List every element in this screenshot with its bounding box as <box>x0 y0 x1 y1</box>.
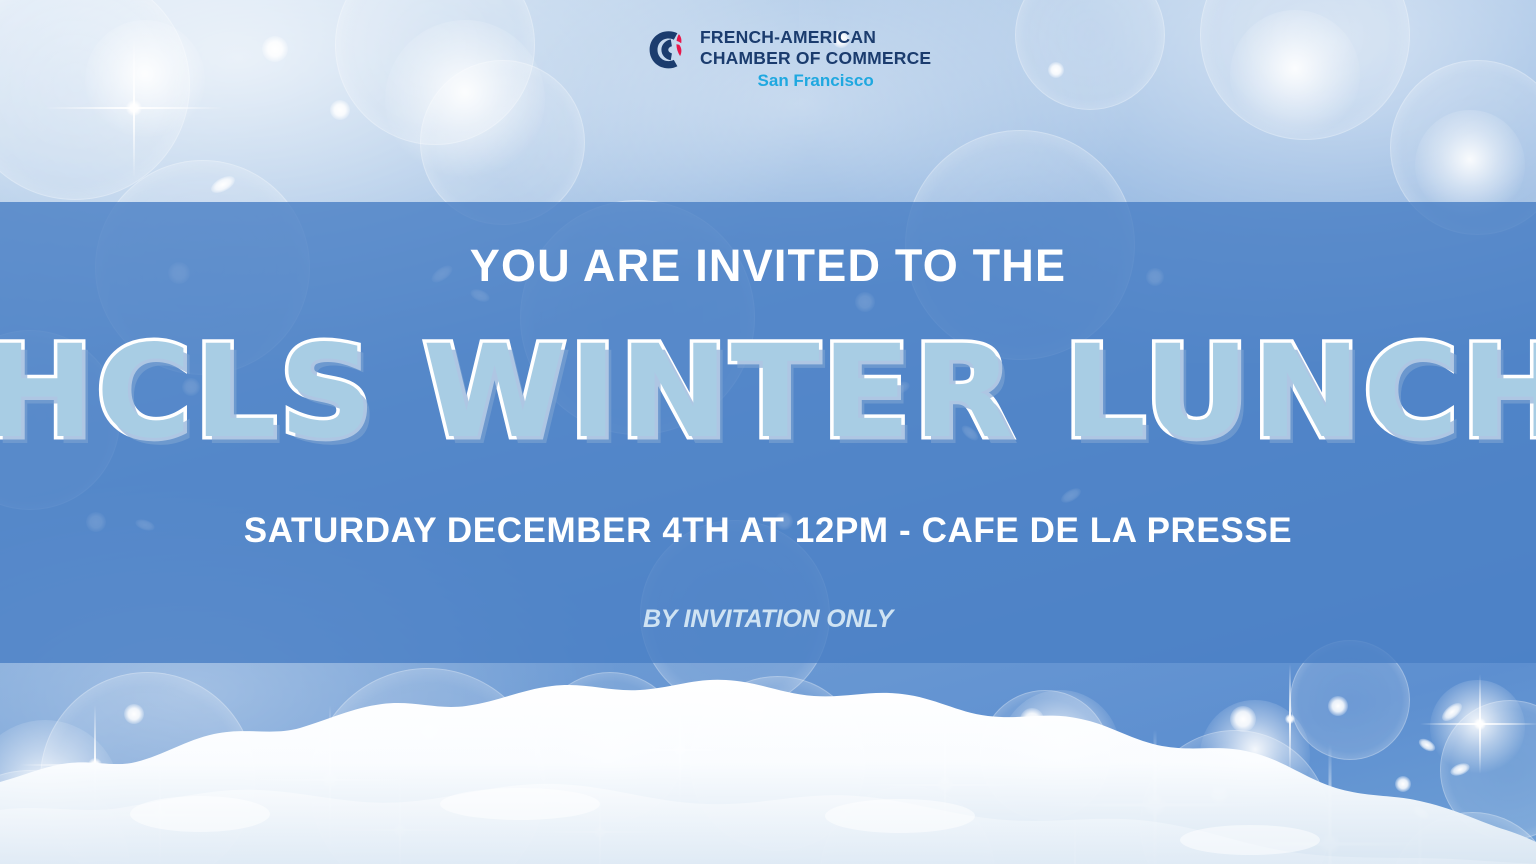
cci-double-c-flame-icon <box>645 28 691 74</box>
invite-kicker: YOU ARE INVITED TO THE <box>0 240 1536 292</box>
event-datetime-venue: SATURDAY DECEMBER 4TH AT 12PM - CAFE DE … <box>0 511 1536 551</box>
event-title-text: HCLS WINTER LUNCH MEETING <box>0 318 1536 467</box>
logo-city: San Francisco <box>700 70 931 92</box>
facc-logo[interactable]: FRENCH-AMERICAN CHAMBER OF COMMERCE San … <box>645 27 931 92</box>
winter-invitation-poster: FRENCH-AMERICAN CHAMBER OF COMMERCE San … <box>0 0 1536 864</box>
logo-line-1: FRENCH-AMERICAN <box>700 27 931 48</box>
event-title: HCLS WINTER LUNCH MEETING <box>0 333 1536 453</box>
sparkle-icon <box>44 18 224 198</box>
logo-line-2: CHAMBER OF COMMERCE <box>700 48 931 69</box>
invitation-only-note: BY INVITATION ONLY <box>0 605 1536 634</box>
snow-drift <box>0 664 1536 864</box>
